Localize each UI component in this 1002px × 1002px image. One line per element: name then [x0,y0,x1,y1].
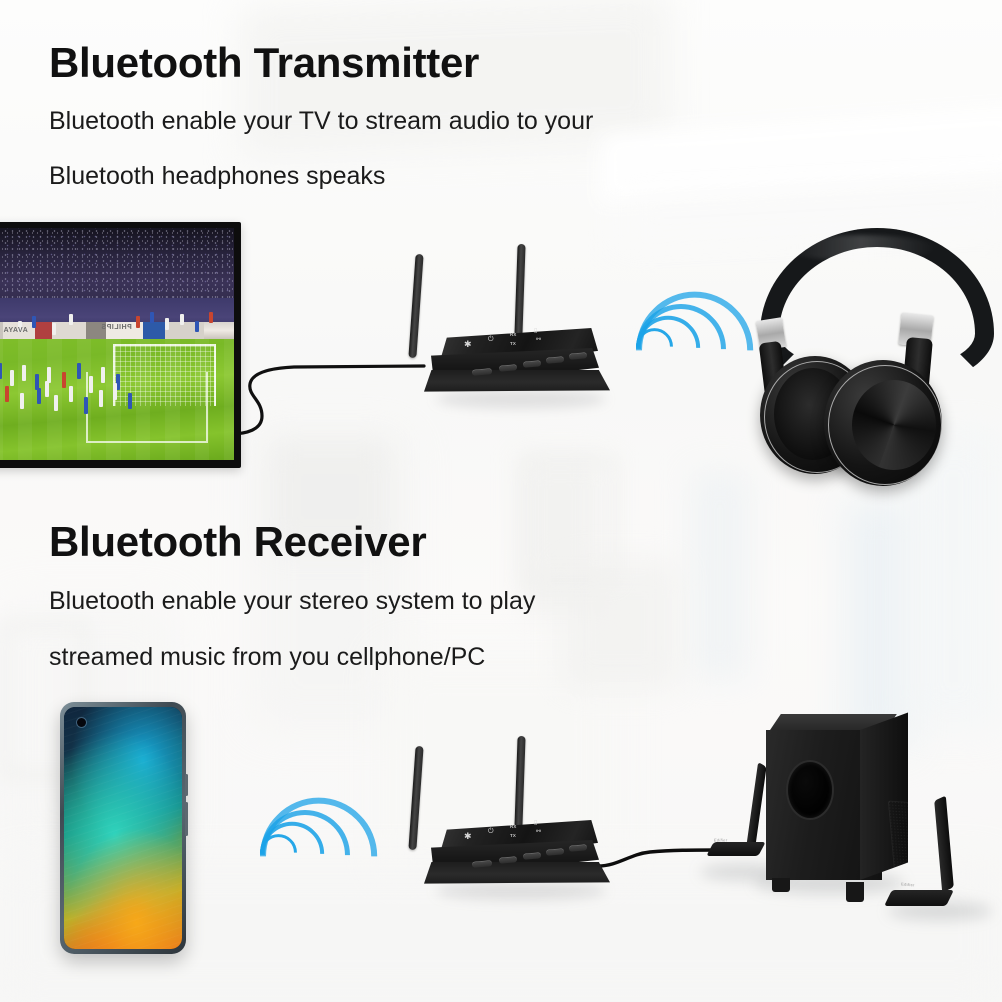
tv-player [52,323,56,335]
television: AVAYAPHILIPS [0,222,241,468]
tv-player [99,390,103,406]
tv-player [195,321,199,333]
tv-player [22,365,26,381]
tv-player [209,312,213,324]
headphone-disc-right [852,380,936,470]
phone-volume-button[interactable] [185,802,188,836]
bluetooth-icon: ✱ [464,832,472,841]
tv-player [32,316,36,328]
phone-power-button[interactable] [185,774,188,796]
tv-player [69,314,73,326]
link-icon: ⚯ [536,829,541,835]
bluetooth-device-receiver: ✱ ⏻ RX TX ▯ ⚯ [406,736,622,908]
receiver-description-line-1: Bluetooth enable your stereo system to p… [49,585,535,619]
subwoofer-port [788,762,832,818]
tv-player [10,370,14,386]
battery-icon: ▯ [534,328,537,334]
tv-player [128,393,132,409]
label-rx: RX [510,824,517,829]
battery-icon: ▯ [534,820,537,826]
tv-player [37,388,41,404]
bluetooth-signal-waves-transmitter [636,292,740,396]
bluetooth-device-transmitter: ✱ ⏻ RX TX ▯ ⚯ [406,244,622,416]
tv-player [180,314,184,326]
tv-player [69,386,73,402]
phone-screen [64,707,182,949]
label-tx: TX [510,341,516,346]
tv-player [77,363,81,379]
speaker-system: Edifier Edifier [700,712,1000,952]
transmitter-description-line-1: Bluetooth enable your TV to stream audio… [49,105,593,139]
smartphone [60,702,186,954]
tv-player [5,386,9,402]
product-infographic: Bluetooth Transmitter Bluetooth enable y… [0,0,1002,1002]
label-rx: RX [510,332,517,337]
antenna-right [514,736,525,828]
satellite-stand-right [884,890,954,906]
power-icon: ⏻ [488,336,494,343]
tv-ad-board: AVAYA [3,327,28,334]
tv-player [62,372,66,388]
tv-player [89,376,93,392]
antenna-left [408,746,423,850]
antenna-left [408,254,423,358]
tv-player [136,316,140,328]
tv-player [54,395,58,411]
tv-player [20,393,24,409]
headphones [742,228,974,493]
speaker-brand-right: Edifier [901,882,915,888]
transmitter-text-block: Bluetooth Transmitter Bluetooth enable y… [49,42,593,193]
antenna-right [514,244,525,336]
tv-player [45,381,49,397]
tv-player [101,367,105,383]
transmitter-heading: Bluetooth Transmitter [49,42,593,84]
power-icon: ⏻ [488,828,494,835]
tv-ad-board: PHILIPS [101,324,132,331]
bluetooth-signal-waves-receiver [260,798,364,902]
tv-screen-content: AVAYAPHILIPS [0,228,234,460]
phone-camera-icon [77,718,86,727]
receiver-heading: Bluetooth Receiver [49,521,535,563]
tv-player [113,383,117,399]
receiver-description-line-2: streamed music from you cellphone/PC [49,641,535,675]
tv-player [150,312,154,324]
tv-player [84,397,88,413]
tv-player [165,318,169,330]
label-tx: TX [510,833,516,838]
satellite-stand-left [706,842,765,856]
tv-player [0,363,2,379]
receiver-text-block: Bluetooth Receiver Bluetooth enable your… [49,521,535,674]
bluetooth-icon: ✱ [464,340,472,349]
link-icon: ⚯ [536,337,541,343]
transmitter-description-line-2: Bluetooth headphones speaks [49,160,593,194]
